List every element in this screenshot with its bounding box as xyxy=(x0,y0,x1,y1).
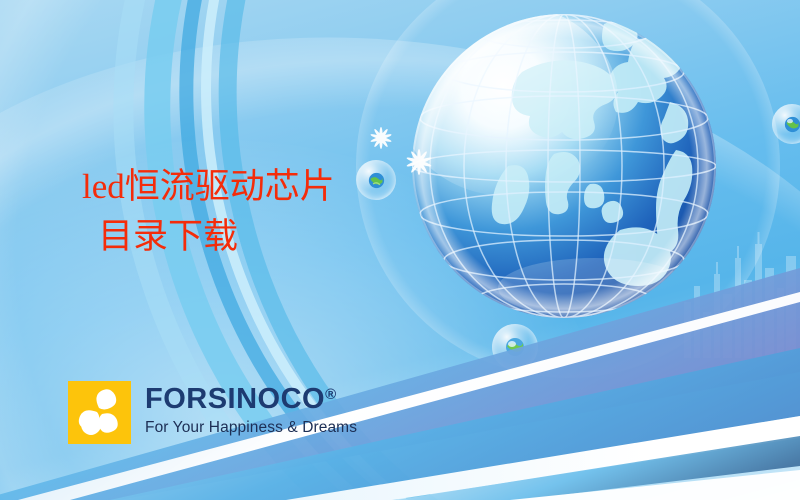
logo-wordmark-text: FORSINOCO xyxy=(145,383,325,415)
brand-logo: FORSINOCO® For Your Happiness & Dreams xyxy=(68,381,357,444)
forsinoco-pinwheel-mark-icon xyxy=(68,381,131,444)
banner-image: led恒流驱动芯片 目录下载 FORSINOCO® For Your Happi… xyxy=(0,0,800,500)
diagonal-swoosh-ribbons xyxy=(0,240,800,500)
page-headline: led恒流驱动芯片 目录下载 xyxy=(82,162,412,261)
logo-tagline: For Your Happiness & Dreams xyxy=(145,419,357,437)
logo-wordmark: FORSINOCO® xyxy=(145,385,357,414)
headline-line-1: led恒流驱动芯片 xyxy=(82,162,412,212)
headline-line-2: 目录下载 xyxy=(82,212,412,262)
registered-trademark-icon: ® xyxy=(325,386,336,403)
logo-text-block: FORSINOCO® For Your Happiness & Dreams xyxy=(145,381,357,437)
